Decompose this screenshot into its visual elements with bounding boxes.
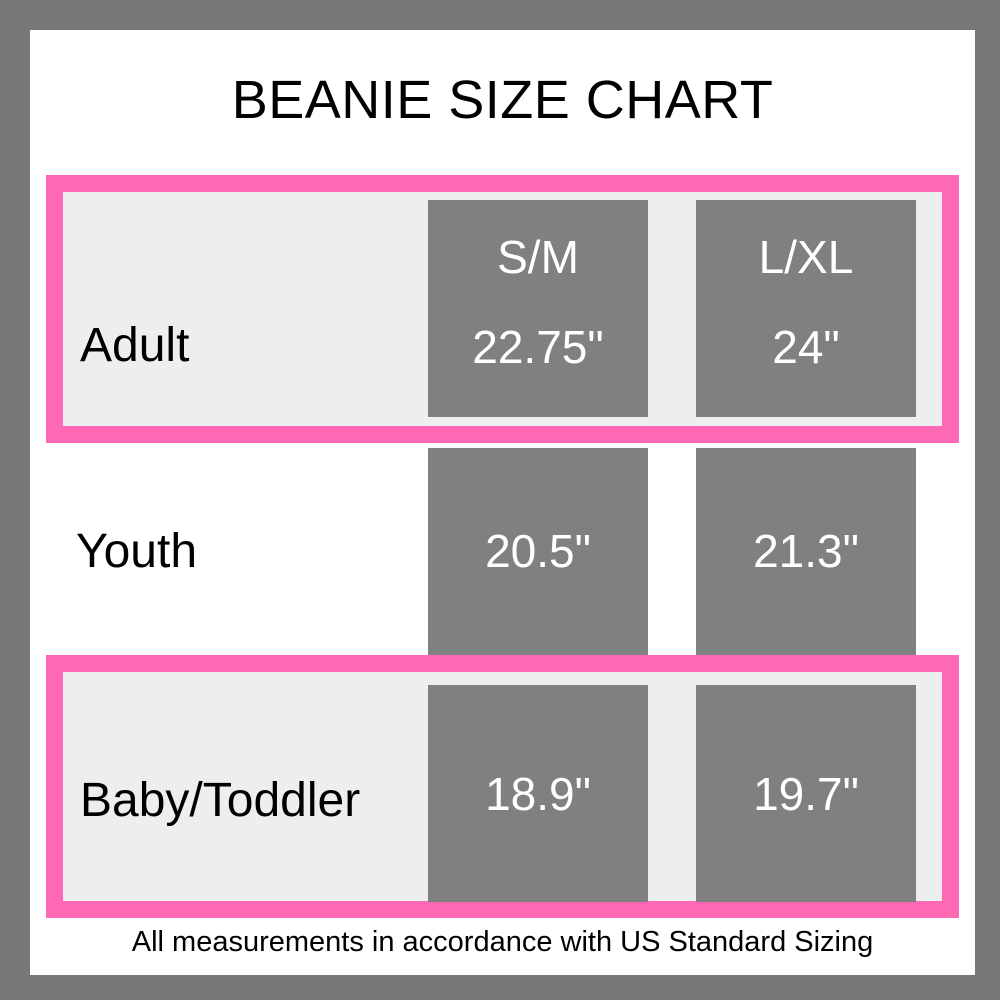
footnote: All measurements in accordance with US S…: [30, 925, 975, 959]
cell-size-label: S/M: [428, 232, 648, 282]
chart-card: BEANIE SIZE CHART S/M 22.75" L/XL 24": [30, 30, 975, 975]
row-label-youth: Youth: [76, 526, 197, 578]
cell-adult-sm: S/M 22.75": [428, 200, 648, 417]
cell-measurement: 18.9": [428, 769, 648, 819]
cell-baby-toddler-sm: 18.9": [428, 685, 648, 902]
row-label-baby-toddler: Baby/Toddler: [80, 775, 360, 827]
cell-youth-lxl: 21.3": [696, 448, 916, 655]
cell-measurement: 19.7": [696, 769, 916, 819]
cell-measurement: 20.5": [428, 526, 648, 576]
cell-baby-toddler-lxl: 19.7": [696, 685, 916, 902]
cell-size-label: L/XL: [696, 232, 916, 282]
size-chart-image: BEANIE SIZE CHART S/M 22.75" L/XL 24": [0, 0, 1000, 1000]
cell-measurement: 21.3": [696, 526, 916, 576]
page-title: BEANIE SIZE CHART: [30, 70, 975, 130]
cell-measurement: 22.75": [428, 322, 648, 372]
row-label-adult: Adult: [80, 320, 189, 372]
cell-measurement: 24": [696, 322, 916, 372]
cell-youth-sm: 20.5": [428, 448, 648, 655]
cell-adult-lxl: L/XL 24": [696, 200, 916, 417]
